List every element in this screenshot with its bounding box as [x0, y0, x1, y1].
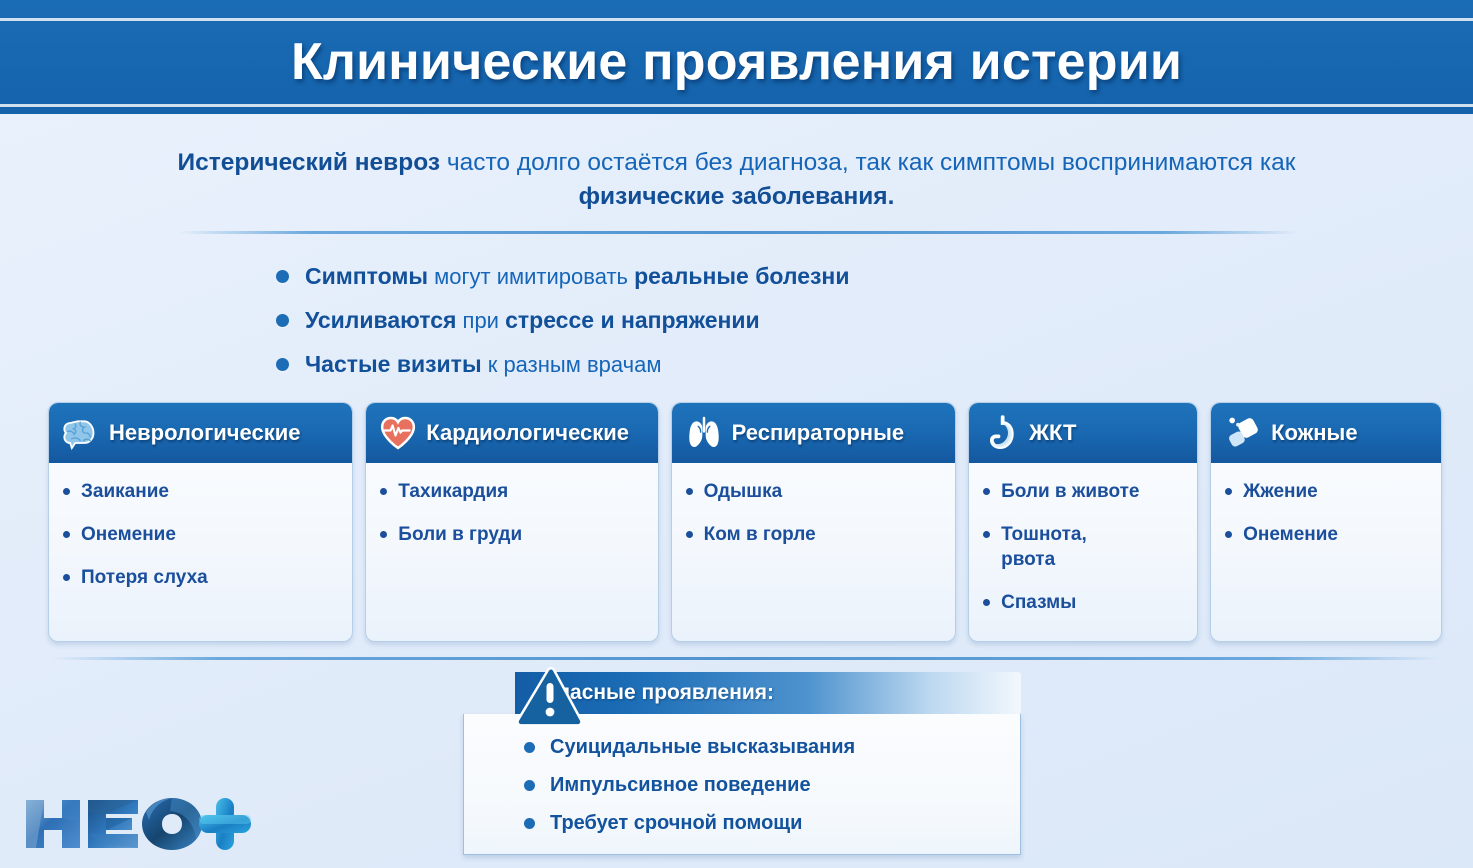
bullet-dot-icon [63, 488, 70, 495]
brain-icon [61, 413, 101, 453]
card-body: Заикание Онемение Потеря слуха [49, 463, 352, 616]
key-point-strong: Симптомы [305, 263, 428, 289]
header-rule-top [0, 18, 1473, 21]
key-point-normal: к разным врачам [482, 352, 662, 377]
intro-strong: физические заболевания. [579, 183, 895, 210]
list-item: Частые визиты к разным врачам [276, 342, 849, 386]
symptom-label: Тахикардия [398, 479, 508, 504]
list-item: Спазмы [983, 590, 1185, 615]
list-item: Симптомы могут имитировать реальные боле… [276, 254, 849, 298]
bullet-dot-icon [983, 531, 990, 538]
card-title: Респираторные [732, 420, 904, 446]
header-rule-bottom [0, 104, 1473, 107]
card-header: Неврологические [49, 403, 352, 463]
bullet-dot-icon [276, 314, 289, 327]
logo-letter-e [88, 800, 138, 848]
card-title: Неврологические [109, 420, 301, 446]
logo-letter-n [26, 800, 80, 848]
bullet-dot-icon [276, 270, 289, 283]
list-item: Требует срочной помощи [524, 804, 1010, 842]
list-item: Суицидальные высказывания [524, 728, 1010, 766]
intro-mid: часто долго остаётся без диагноза, так к… [440, 149, 1295, 176]
symptom-label: Заикание [81, 479, 169, 504]
card-body: Боли в животе Тошнота, рвота Спазмы [969, 463, 1197, 641]
bullet-dot-icon [524, 780, 535, 791]
danger-callout: Опасные проявления: Суицидальные высказы… [463, 672, 1021, 855]
symptom-label: Онемение [1243, 522, 1338, 547]
card-header: Кардиологические [366, 403, 657, 463]
symptom-label: Жжение [1243, 479, 1318, 504]
list-item: Усиливаются при стрессе и напряжении [276, 298, 849, 342]
card-body: Одышка Ком в горле [672, 463, 955, 573]
skin-icon [1223, 413, 1263, 453]
list-item: Онемение [63, 522, 340, 547]
danger-item-label: Суицидальные высказывания [550, 736, 855, 759]
bullet-dot-icon [524, 742, 535, 753]
card-header: ЖКТ [969, 403, 1197, 463]
card-title: ЖКТ [1029, 420, 1076, 446]
card-body: Жжение Онемение [1211, 463, 1441, 573]
symptom-label: Боли в груди [398, 522, 522, 547]
bullet-dot-icon [686, 488, 693, 495]
bullet-dot-icon [983, 488, 990, 495]
warning-triangle-icon [515, 666, 585, 728]
card-title: Кардиологические [426, 420, 629, 446]
intro-paragraph: Истерический невроз часто долго остаётся… [150, 146, 1323, 214]
list-item: Одышка [686, 479, 943, 504]
card-respiratory: Респираторные Одышка Ком в горле [671, 402, 956, 642]
list-item: Онемение [1225, 522, 1429, 547]
stomach-icon [981, 413, 1021, 453]
lungs-icon [684, 413, 724, 453]
key-point-normal: при [456, 308, 505, 333]
symptom-label: Тошнота, рвота [1001, 522, 1087, 572]
intro-lead: Истерический невроз [178, 149, 441, 176]
neo-plus-logo [22, 792, 252, 854]
card-neurological: Неврологические Заикание Онемение Потеря… [48, 402, 353, 642]
divider-top [178, 231, 1298, 234]
symptom-cards-row: Неврологические Заикание Онемение Потеря… [48, 402, 1442, 642]
key-points-list: Симптомы могут имитировать реальные боле… [276, 254, 849, 386]
list-item: Заикание [63, 479, 340, 504]
logo-letter-o [142, 798, 202, 850]
card-body: Тахикардия Боли в груди [366, 463, 657, 573]
logo-plus-icon [199, 798, 251, 850]
bullet-dot-icon [983, 599, 990, 606]
list-item: Жжение [1225, 479, 1429, 504]
danger-item-label: Импульсивное поведение [550, 774, 811, 797]
page-header: Клинические проявления истерии [0, 0, 1473, 114]
list-item: Тахикардия [380, 479, 645, 504]
card-gastrointestinal: ЖКТ Боли в животе Тошнота, рвота Спазмы [968, 402, 1198, 642]
list-item: Потеря слуха [63, 565, 340, 590]
key-point-strong: Усиливаются [305, 307, 456, 333]
card-header: Респираторные [672, 403, 955, 463]
key-point-normal: могут имитировать [428, 264, 634, 289]
symptom-label: Спазмы [1001, 590, 1076, 615]
list-item: Боли в груди [380, 522, 645, 547]
list-item: Ком в горле [686, 522, 943, 547]
divider-bottom [52, 657, 1440, 660]
danger-callout-body: Суицидальные высказывания Импульсивное п… [463, 714, 1021, 855]
bullet-dot-icon [686, 531, 693, 538]
list-item: Боли в животе [983, 479, 1185, 504]
bullet-dot-icon [1225, 488, 1232, 495]
symptom-label: Одышка [704, 479, 783, 504]
page-title: Клинические проявления истерии [0, 22, 1473, 102]
bullet-dot-icon [276, 358, 289, 371]
symptom-label: Боли в животе [1001, 479, 1139, 504]
list-item: Тошнота, рвота [983, 522, 1185, 572]
key-point-strong2: стрессе и напряжении [505, 307, 760, 333]
symptom-label: Ком в горле [704, 522, 816, 547]
symptom-label: Онемение [81, 522, 176, 547]
card-skin: Кожные Жжение Онемение [1210, 402, 1442, 642]
symptom-label: Потеря слуха [81, 565, 208, 590]
card-header: Кожные [1211, 403, 1441, 463]
list-item: Импульсивное поведение [524, 766, 1010, 804]
key-point-strong: Частые визиты [305, 351, 482, 377]
danger-callout-header: Опасные проявления: [515, 672, 1021, 714]
card-title: Кожные [1271, 420, 1358, 446]
bullet-dot-icon [380, 488, 387, 495]
card-cardiological: Кардиологические Тахикардия Боли в груди [365, 402, 658, 642]
bullet-dot-icon [380, 531, 387, 538]
bullet-dot-icon [524, 818, 535, 829]
bullet-dot-icon [63, 531, 70, 538]
key-point-strong2: реальные болезни [634, 263, 849, 289]
danger-item-label: Требует срочной помощи [550, 812, 802, 835]
heart-icon [378, 413, 418, 453]
bullet-dot-icon [63, 574, 70, 581]
bullet-dot-icon [1225, 531, 1232, 538]
